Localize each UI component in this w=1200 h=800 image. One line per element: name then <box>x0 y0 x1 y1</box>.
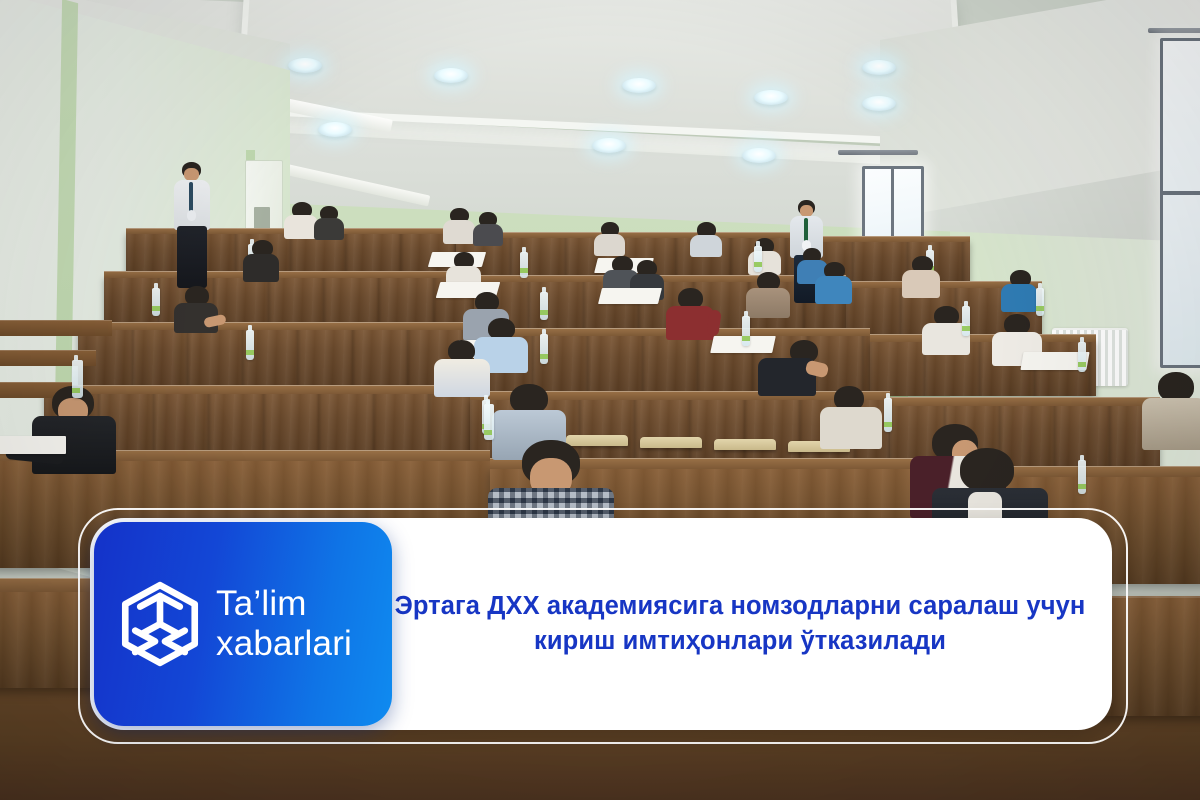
water-bottle <box>1078 342 1086 372</box>
answer-sheet <box>0 436 66 454</box>
bench-seat <box>640 437 702 448</box>
torso <box>746 288 790 318</box>
water-bottle <box>540 334 548 364</box>
lanyard <box>804 218 808 242</box>
torso <box>284 215 318 239</box>
brand-name: Ta’lim xabarlari <box>216 584 352 664</box>
water-bottle <box>884 398 892 432</box>
torso <box>243 254 279 282</box>
torso <box>690 235 722 257</box>
torso <box>473 224 503 246</box>
brand-logo-card[interactable]: Ta’lim xabarlari <box>94 522 392 726</box>
cube-box-icon <box>118 581 202 667</box>
news-card-image: Эртага ДХХ академиясига номзодларни сара… <box>0 0 1200 800</box>
desk-row <box>78 328 478 386</box>
desk-row-top <box>798 236 970 242</box>
water-bottle <box>1078 460 1086 494</box>
headline-text: Эртага ДХХ академиясига номзодларни сара… <box>390 589 1090 659</box>
torso <box>314 218 344 240</box>
brand-line-2: xabarlari <box>216 624 352 664</box>
ceiling-light <box>862 60 896 75</box>
head <box>960 448 1014 492</box>
desk-row-top <box>104 271 474 278</box>
torso <box>443 220 475 244</box>
torso <box>666 306 714 340</box>
ceiling-light <box>288 58 322 73</box>
door-handle-plate <box>254 207 270 229</box>
water-bottle <box>484 404 494 440</box>
water-bottle <box>540 292 548 320</box>
window-curtain-rail-far <box>838 150 918 155</box>
id-badge <box>187 210 196 221</box>
water-bottle <box>152 288 160 316</box>
answer-sheet <box>598 288 662 304</box>
water-bottle <box>246 330 254 360</box>
window-near <box>1160 38 1200 368</box>
water-bottle <box>962 306 970 336</box>
bench-seat <box>714 439 776 450</box>
torso <box>815 276 852 304</box>
torso <box>434 359 490 397</box>
aisle-step <box>0 320 112 336</box>
torso <box>1142 398 1200 450</box>
ceiling-light <box>742 148 776 163</box>
ceiling-light <box>592 138 626 153</box>
water-bottle <box>520 252 528 278</box>
desk-row-top <box>870 334 1096 342</box>
desk-row-top <box>890 397 1160 406</box>
legs <box>177 226 207 288</box>
ceiling-light <box>434 68 468 83</box>
water-bottle <box>1036 288 1044 316</box>
ceiling-light <box>754 90 788 105</box>
desk-row-top <box>78 322 478 330</box>
ceiling-light <box>862 96 896 111</box>
water-bottle <box>72 360 83 398</box>
torso <box>1001 284 1037 312</box>
water-bottle <box>742 316 750 346</box>
window-transom <box>1163 191 1200 195</box>
desk-row-top <box>456 232 798 238</box>
bench-seat <box>566 435 628 446</box>
ceiling-light <box>622 78 656 93</box>
desk-row-top <box>44 385 470 394</box>
torso <box>902 270 940 298</box>
torso <box>820 407 882 449</box>
water-bottle <box>754 246 762 272</box>
ceiling-light <box>318 122 352 137</box>
lanyard <box>189 182 193 212</box>
torso <box>594 234 625 256</box>
window-curtain-rail-near <box>1148 28 1200 33</box>
desk-front-most-right <box>1100 596 1200 716</box>
brand-line-1: Ta’lim <box>216 584 352 624</box>
